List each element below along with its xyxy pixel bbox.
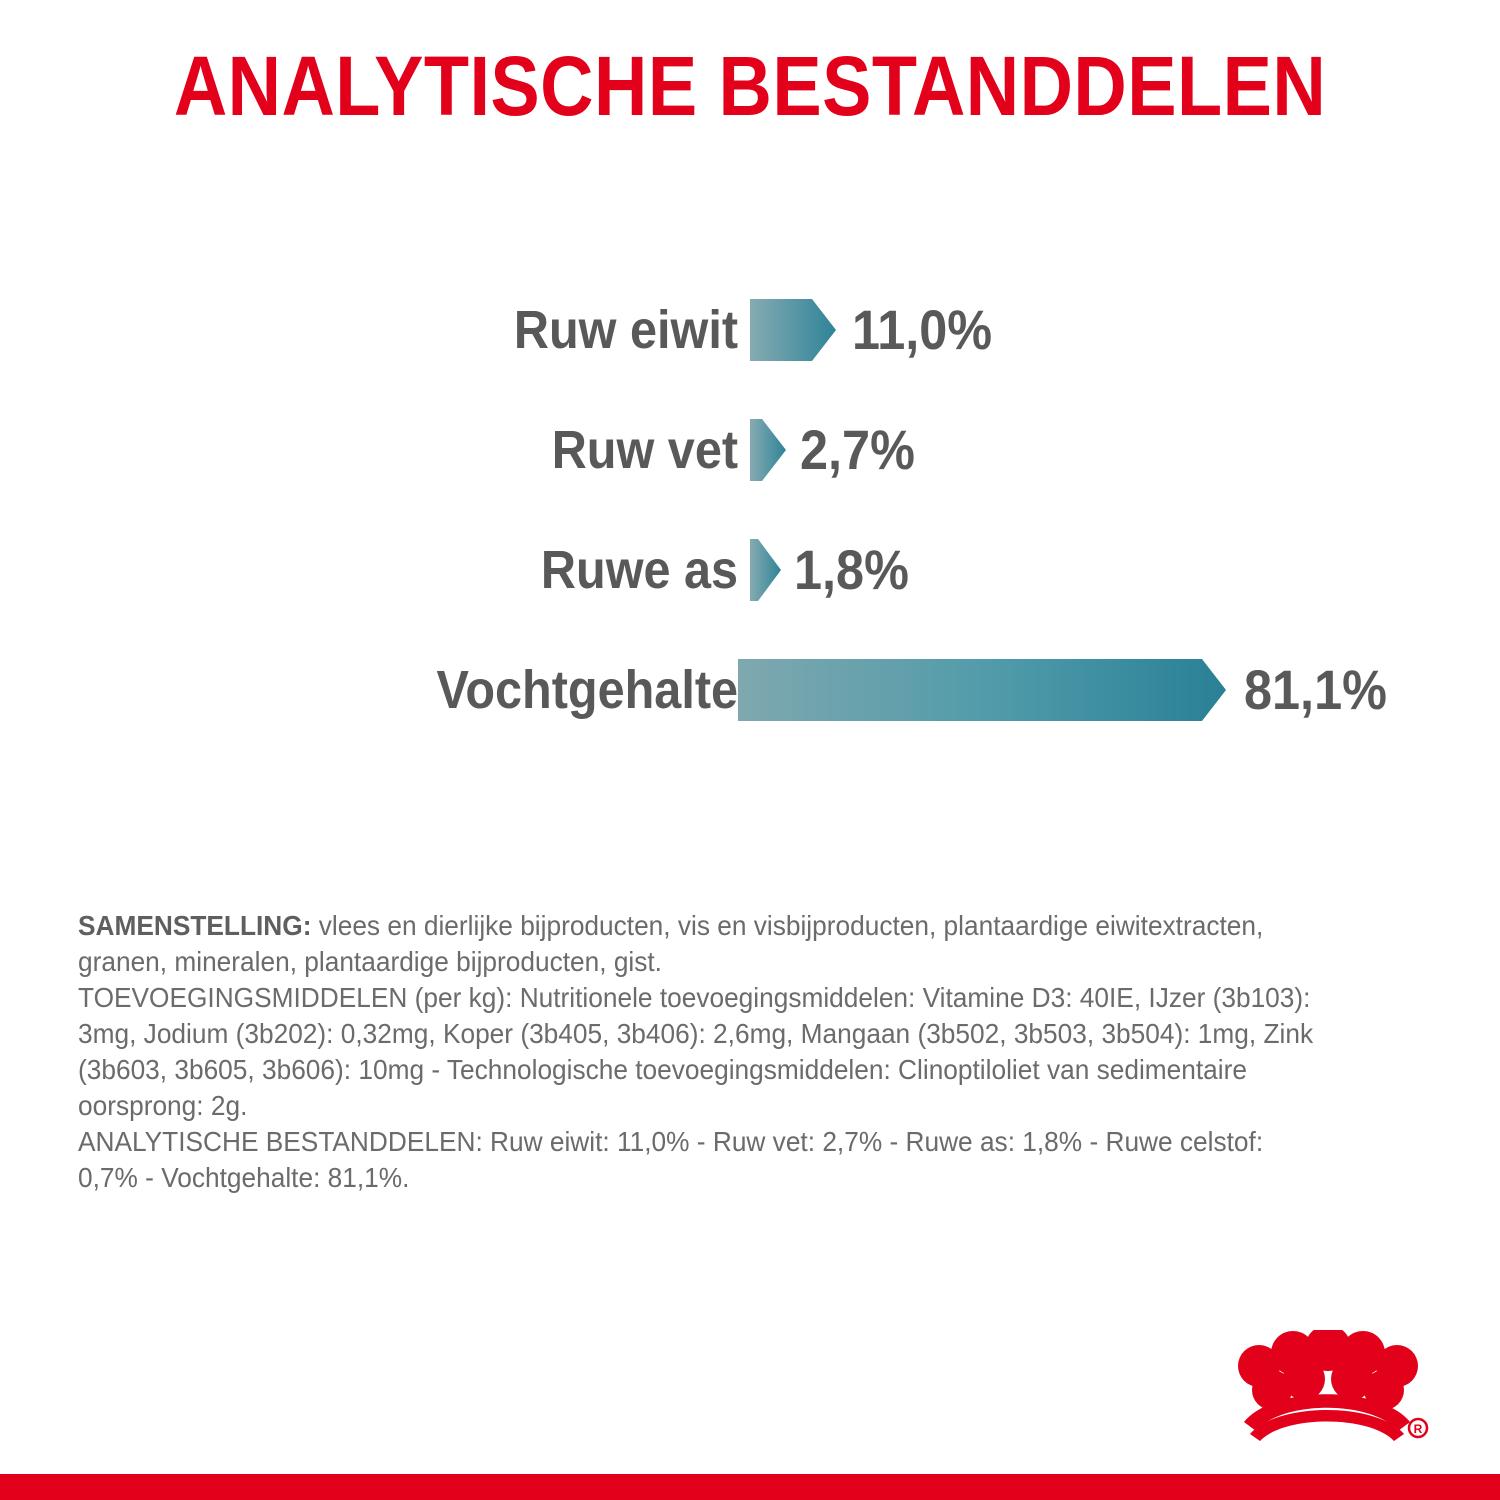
chart-row: Vochtgehalte 81,1% — [0, 630, 1500, 750]
bar-shape-icon — [738, 659, 1226, 721]
composition-analytical: ANALYTISCHE BESTANDDELEN: Ruw eiwit: 11,… — [78, 1124, 1320, 1196]
chart-row: Ruw vet 2,7% — [0, 390, 1500, 510]
composition-block: SAMENSTELLING: vlees en dierlijke bijpro… — [78, 908, 1320, 1196]
bar-shape-icon — [750, 539, 781, 601]
bar-ruwe-as — [750, 539, 781, 601]
chart-row: Ruwe as 1,8% — [0, 510, 1500, 630]
bar-ruw-eiwit — [750, 299, 836, 361]
footer-accent-bar — [0, 1474, 1500, 1500]
nutrition-info-page: ANALYTISCHE BESTANDDELEN Ruw eiwit — [0, 0, 1500, 1500]
analytical-constituents-chart: Ruw eiwit 11,0% — [0, 270, 1500, 750]
crown-icon: R — [1222, 1330, 1432, 1450]
bar-vochtgehalte — [738, 659, 1226, 721]
composition-heading: SAMENSTELLING: — [78, 910, 311, 941]
composition-ingredients-line: SAMENSTELLING: vlees en dierlijke bijpro… — [78, 908, 1320, 980]
bar-track-ruw-eiwit — [750, 299, 836, 361]
bar-shape-icon — [750, 419, 786, 481]
composition-additives: TOEVOEGINGSMIDDELEN (per kg): Nutritione… — [78, 980, 1320, 1124]
royal-canin-crown-logo: R — [1222, 1330, 1432, 1450]
bar-label-vochtgehalte: Vochtgehalte — [436, 663, 738, 717]
bar-value-ruwe-as: 1,8% — [794, 542, 909, 598]
bar-label-ruw-vet: Ruw vet — [552, 423, 738, 477]
bar-label-ruw-eiwit: Ruw eiwit — [514, 303, 738, 357]
page-title: ANALYTISCHE BESTANDDELEN — [90, 44, 1410, 128]
bar-track-ruw-vet — [750, 419, 786, 481]
bar-value-ruw-eiwit: 11,0% — [852, 302, 992, 358]
svg-text:R: R — [1414, 1422, 1423, 1436]
bar-ruw-vet — [750, 419, 786, 481]
bar-value-vochtgehalte: 81,1% — [1244, 662, 1387, 718]
chart-row: Ruw eiwit 11,0% — [0, 270, 1500, 390]
bar-track-ruwe-as — [750, 539, 781, 601]
bar-value-ruw-vet: 2,7% — [800, 422, 915, 478]
bar-label-ruwe-as: Ruwe as — [541, 543, 738, 597]
registered-trademark-icon: R — [1409, 1419, 1427, 1437]
bar-shape-icon — [750, 299, 836, 361]
bar-track-vochtgehalte — [738, 659, 1226, 721]
